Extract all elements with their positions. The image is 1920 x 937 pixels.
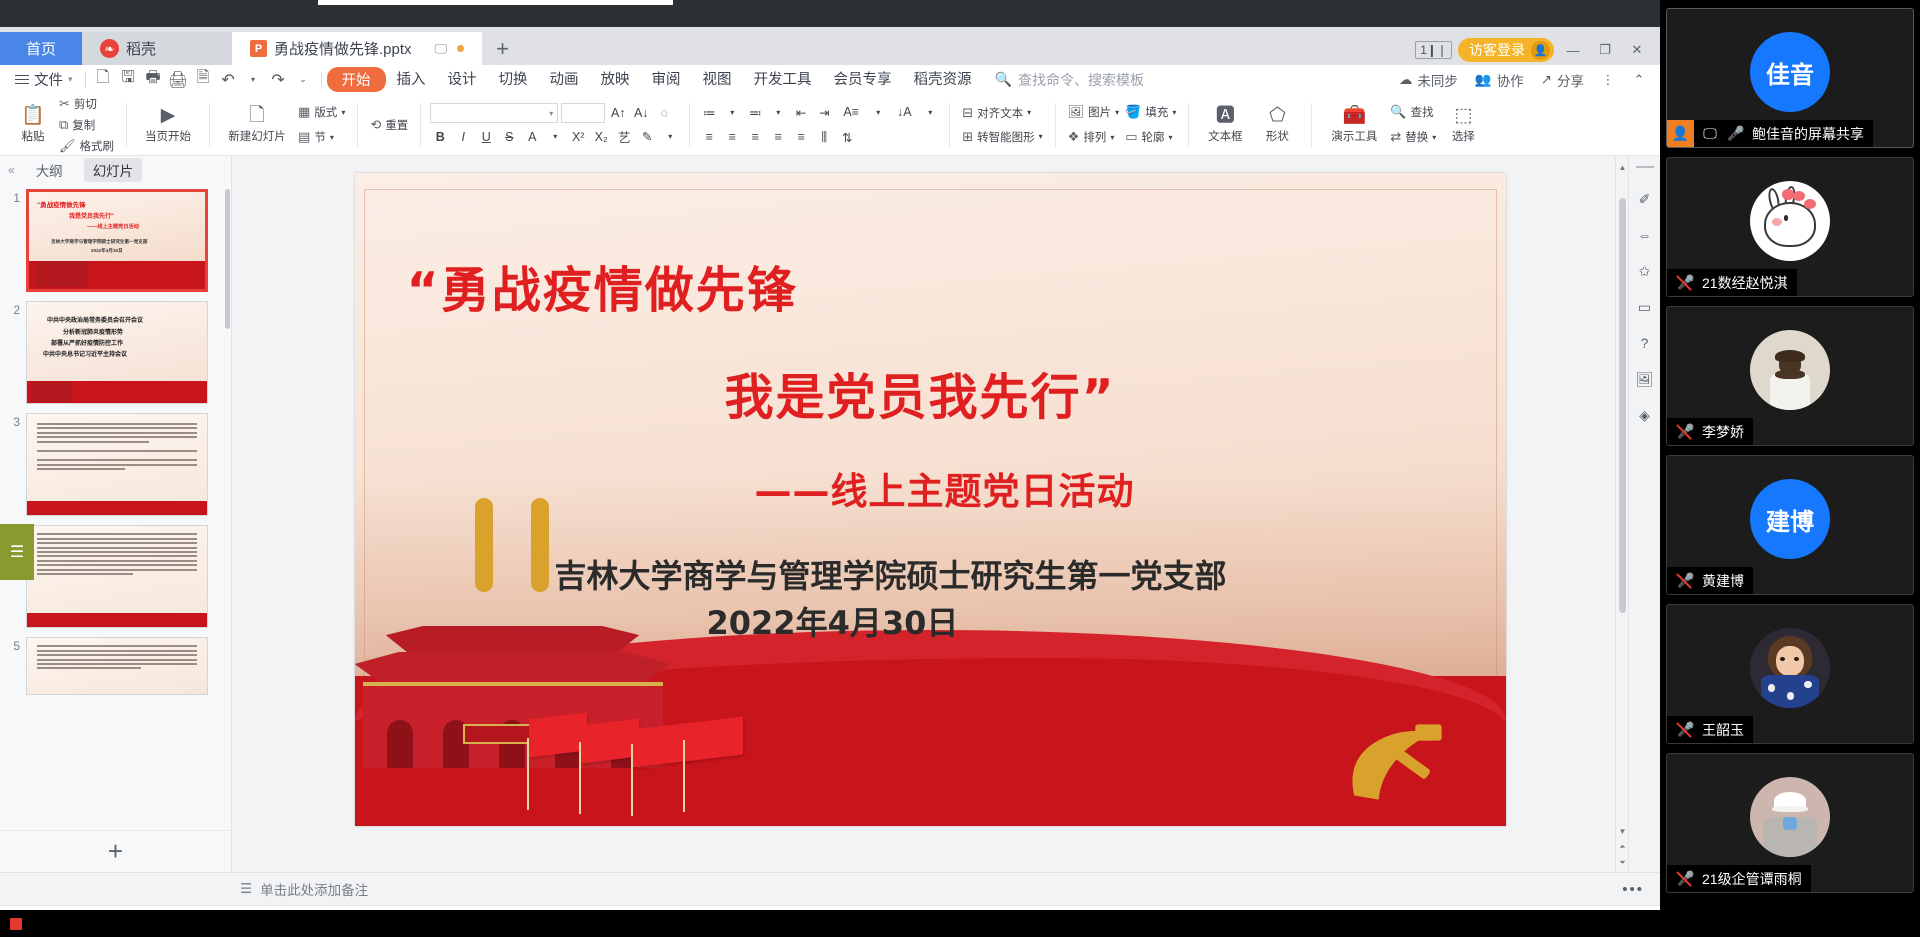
participant-tile-4[interactable]: 🎤 王韶玉 [1666, 604, 1914, 744]
participant-name: 黄建博 [1702, 571, 1744, 591]
shapes-icon: ⬠ [1269, 106, 1286, 126]
export-pdf-icon[interactable]: 🗎 [191, 69, 216, 91]
avatar-initials: 建博 [1766, 502, 1814, 537]
thumbnail-line-4: 中共中央总书记习近平主持会议 [43, 349, 127, 358]
share-icon: ↗ [1541, 72, 1552, 88]
chevron-down-icon: ▾ [1172, 108, 1176, 117]
avatar-photo [1750, 777, 1830, 857]
flag-group [505, 706, 765, 816]
ribbon-tab-transition[interactable]: 切换 [488, 70, 539, 90]
align-text-icon: ⊟ [962, 105, 973, 121]
window-tab-bar: 首页 ❧ 稻壳 P 勇战疫情做先锋.pptx 🖵 + 1 ❙❘ [0, 27, 1660, 65]
section-label: 节 [314, 129, 326, 145]
divider [85, 72, 86, 88]
reset-label: 重置 [385, 117, 408, 133]
thumbnail-slide-3[interactable] [26, 413, 208, 516]
gate-arch [387, 720, 413, 768]
insert-left-col: 🖼 图片 ▾ ❖ 排列 ▾ [1065, 97, 1123, 153]
cut-button[interactable]: ✂ 剪切 [56, 95, 117, 113]
participant-name: 21数经赵悦淇 [1702, 273, 1788, 293]
tab-home[interactable]: 首页 [0, 32, 82, 65]
tab-daoke-label: 稻壳 [126, 38, 156, 59]
new-tab-button[interactable]: + [482, 36, 523, 65]
text-box-icon: 🅰 [1216, 106, 1235, 126]
share-label: 分享 [1557, 70, 1584, 90]
ribbon-group-font: ▾ A↑ A↓ ◌ B I U S A ▾ X² X₂ 艺 [426, 94, 684, 155]
chevron-down-icon[interactable]: ▾ [920, 103, 940, 122]
layout-label: 版式 [314, 104, 337, 120]
tab-daoke[interactable]: ❧ 稻壳 [82, 32, 232, 65]
picture-label: 图片 [1088, 104, 1111, 120]
copy-button[interactable]: ⧉ 复制 [56, 116, 117, 134]
taskbar-indicator-icon [10, 918, 22, 930]
avatar-photo [1750, 181, 1830, 261]
list-item[interactable]: 1 "勇战疫情做先锋 我是党员我先行" ——线上主题党日活动 吉林大学商学与管理… [0, 189, 231, 301]
font-size-select[interactable] [561, 103, 605, 123]
arrange-button[interactable]: ❖ 排列 ▾ [1065, 128, 1123, 146]
text-box-label: 文本框 [1208, 128, 1243, 144]
find-label: 查找 [1411, 104, 1434, 120]
slide-thumbnail-pane: « 大纲 幻灯片 1 "勇战疫情做先锋 我是党员我先行" ——线上主题党日 [0, 156, 232, 872]
tab-slides[interactable]: 幻灯片 [84, 158, 143, 182]
paste-button[interactable]: 📋 粘贴 [10, 97, 56, 153]
align-right-button[interactable]: ≡ [745, 128, 765, 147]
slide-title-line-2[interactable]: 我是党员我先行” [725, 358, 1116, 429]
participant-name-bar: 🎤 21数经赵悦淇 [1667, 269, 1797, 296]
close-button[interactable]: ✕ [1624, 39, 1650, 61]
mic-muted-icon: 🎤 [1676, 721, 1696, 738]
gate-roof-upper [381, 626, 645, 652]
thumbnail-scrollbar[interactable] [225, 189, 230, 329]
undo-dropdown-icon[interactable]: ▾ [241, 69, 266, 91]
superscript-button[interactable]: X² [568, 127, 588, 146]
ribbon-tab-view[interactable]: 视图 [692, 70, 743, 90]
avatar [1750, 628, 1830, 708]
smart-art-label: 转智能图形 [977, 129, 1035, 145]
list-icon: ☰ [10, 542, 24, 562]
customize-toolbar-icon[interactable]: ⌄ [291, 69, 316, 91]
avatar [1750, 777, 1830, 857]
reset-icon: ⟲ [370, 117, 381, 133]
cloud-sync-icon: ☁ [1399, 72, 1413, 88]
canvas-vertical-scrollbar[interactable]: ▲ ▼ ⏶ ⏷ [1615, 156, 1628, 872]
chevron-down-icon[interactable]: ▾ [722, 103, 742, 122]
gold-column [531, 498, 549, 592]
save-icon[interactable]: 🖫 [116, 69, 141, 91]
participant-tile-3[interactable]: 建博 🎤 黄建博 [1666, 455, 1914, 595]
participant-tile-1[interactable]: 🎤 21数经赵悦淇 [1666, 157, 1914, 297]
select-button[interactable]: ⬚ 选择 [1439, 97, 1487, 153]
print-preview-icon[interactable]: 🖶 [141, 69, 166, 91]
thumbnail-line-2: 分析新冠肺炎疫情形势 [63, 327, 123, 336]
replace-button[interactable]: ⇄ 替换 ▾ [1387, 128, 1439, 146]
window-controls: 1 ❙❘ 访客登录 👤 — ❐ ✕ [1415, 38, 1660, 62]
ribbon-group-paragraph: ≔ ▾ ≕ ▾ ⇤ ⇥ A≡ ▾ ↓A ▾ ≡ ≡ ≡ ≡ ≡ [695, 94, 944, 155]
ribbon-group-text-tools: ⊟ 对齐文本 ▾ ⊞ 转智能图形 ▾ [955, 94, 1049, 155]
slide-count-value: 1 [1420, 43, 1427, 57]
avatar-initials: 佳音 [1766, 55, 1814, 90]
thumbnail-slide-5[interactable] [26, 637, 208, 695]
ribbon-tab-design[interactable]: 设计 [437, 70, 488, 90]
participant-tile-2[interactable]: 🎤 李梦娇 [1666, 306, 1914, 446]
arrange-label: 排列 [1083, 129, 1106, 145]
sync-status-label: 未同步 [1417, 70, 1458, 90]
tab-document-label: 勇战疫情做先锋.pptx [274, 38, 412, 59]
ribbon-tab-insert[interactable]: 插入 [386, 70, 437, 90]
increase-font-size-button[interactable]: A↑ [608, 104, 628, 123]
columns-button[interactable]: ⫼ [814, 128, 834, 147]
play-circle-icon: ▶ [161, 106, 176, 126]
chevron-down-icon: ▾ [1432, 133, 1436, 142]
thumbnail-slide-1[interactable]: "勇战疫情做先锋 我是党员我先行" ——线上主题党日活动 吉林大学商学与管理学院… [26, 189, 208, 292]
line-spacing-button[interactable]: A≡ [837, 103, 865, 122]
more-options-button[interactable]: ⋮ [1595, 69, 1621, 91]
align-text-button[interactable]: ⊟ 对齐文本 ▾ [959, 104, 1034, 122]
layers-icon[interactable]: ◈ [1634, 404, 1656, 426]
italic-button[interactable]: I [453, 127, 473, 146]
mic-muted-icon: 🎤 [1676, 572, 1696, 589]
decrease-font-size-button[interactable]: A↓ [631, 104, 651, 123]
ribbon-tab-slideshow[interactable]: 放映 [590, 70, 641, 90]
smart-art-button[interactable]: ⊞ 转智能图形 ▾ [959, 128, 1045, 146]
arrange-icon: ❖ [1068, 129, 1080, 145]
participant-name: 王韶玉 [1702, 720, 1744, 740]
participant-tile-5[interactable]: 🎤 21级企管谭雨桐 [1666, 753, 1914, 893]
text-effect-button[interactable]: 艺 [614, 127, 634, 146]
mic-muted-icon: 🎤 [1676, 870, 1696, 887]
start-from-current-button[interactable]: ▶ 当页开始 [136, 97, 200, 153]
notes-more-button[interactable]: ••• [1622, 881, 1644, 898]
present-tools-label: 演示工具 [1331, 128, 1377, 144]
select-cursor-icon: ⬚ [1454, 106, 1472, 126]
text-direction-button[interactable]: ⇅ [837, 128, 857, 147]
ribbon-group-tools: 🧰 演示工具 🔍 查找 ⇄ 替换 ▾ ⬚ 选择 [1317, 94, 1491, 155]
chevron-down-icon[interactable]: ▾ [768, 103, 788, 122]
picture-icon: 🖼 [1068, 104, 1085, 120]
hammer-sickle-icon [1340, 716, 1462, 808]
collaborate-button[interactable]: 👥 协作 [1469, 70, 1530, 90]
thumb-gate [31, 382, 71, 402]
gold-column [475, 498, 493, 592]
format-painter-button[interactable]: 🖌 格式刷 [56, 137, 117, 155]
thumbnail-line-3: 部署从严抓好疫情防控工作 [51, 338, 123, 347]
user-avatar-icon: 👤 [1531, 41, 1550, 60]
chevron-down-icon: ▾ [330, 133, 334, 142]
reset-button[interactable]: ⟲ 重置 [367, 116, 411, 134]
divider [420, 103, 421, 147]
guest-login-label: 访客登录 [1469, 40, 1525, 60]
bullets-button[interactable]: ≔ [699, 103, 719, 122]
copy-label: 复制 [72, 117, 95, 133]
insert-right-col: 🪣 填充 ▾ ▭ 轮廓 ▾ [1122, 97, 1179, 153]
chevron-down-icon[interactable]: ▾ [545, 127, 565, 146]
fill-button[interactable]: 🪣 填充 ▾ [1122, 103, 1179, 121]
slide-date-line[interactable]: 2022年4月30日 [707, 598, 959, 644]
search-icon: 🔍 [1390, 104, 1406, 120]
font-family-select[interactable]: ▾ [430, 103, 558, 123]
shapes-button[interactable]: ⬠ 形状 [1252, 97, 1302, 153]
tab-outline[interactable]: 大纲 [27, 158, 72, 182]
chevron-down-icon[interactable]: ▾ [660, 127, 680, 146]
sort-button[interactable]: ↓A [891, 103, 917, 122]
avatar-photo [1750, 628, 1830, 708]
participant-name: 鲍佳音的屏幕共享 [1752, 124, 1864, 144]
collapse-pane-button[interactable]: « [8, 163, 15, 177]
align-left-button[interactable]: ≡ [699, 128, 719, 147]
ribbon-tab-resources[interactable]: 稻壳资源 [903, 70, 983, 90]
present-tools-icon: 🧰 [1343, 106, 1367, 126]
paste-icon: 📋 [21, 106, 45, 126]
fill-label: 填充 [1145, 104, 1168, 120]
copy-icon: ⧉ [59, 117, 68, 133]
notes-placeholder: 单击此处添加备注 [260, 879, 368, 899]
tab-home-label: 首页 [26, 38, 56, 59]
outline-icon: ▭ [1125, 129, 1137, 145]
sync-status-button[interactable]: ☁ 未同步 [1393, 70, 1464, 90]
list-item[interactable]: 5 [0, 637, 231, 704]
new-slide-icon: 🗋 [249, 106, 264, 126]
character-spacing-button[interactable]: A [522, 127, 542, 146]
clipboard-small-buttons: ✂ 剪切 ⧉ 复制 🖌 格式刷 [56, 97, 117, 153]
avatar [1750, 181, 1830, 261]
scissors-icon: ✂ [59, 96, 70, 112]
party-emblem [1334, 708, 1462, 808]
maximize-button[interactable]: ❐ [1592, 39, 1618, 61]
cut-label: 剪切 [74, 96, 97, 112]
align-text-label: 对齐文本 [977, 105, 1023, 121]
pen-icon[interactable]: ✐ [1634, 188, 1656, 210]
tab-document[interactable]: P 勇战疫情做先锋.pptx 🖵 [232, 32, 482, 65]
china-flag [685, 716, 743, 761]
ribbon-group-slides: 🗋 新建幻灯片 ▦ 版式 ▾ ▤ 节 ▾ [215, 94, 352, 155]
slide-count-badge[interactable]: 1 ❙❘ [1415, 41, 1452, 59]
brush-icon: 🖌 [59, 138, 76, 154]
menu-right-actions: ☁ 未同步 👥 协作 ↗ 分享 ⋮ ⌃ [1393, 69, 1652, 91]
increase-indent-button[interactable]: ⇥ [814, 103, 834, 122]
ribbon-tab-start[interactable]: 开始 [327, 67, 386, 92]
slide-list-fab[interactable]: ☰ [0, 524, 34, 580]
outline-button[interactable]: ▭ 轮廓 ▾ [1122, 128, 1179, 146]
strikethrough-button[interactable]: S [499, 127, 519, 146]
file-menu-button[interactable]: 文件 ▾ [8, 69, 80, 90]
slide-title-line-1[interactable]: “勇战疫情做先锋 [407, 251, 798, 322]
divider [209, 103, 210, 147]
thumbnail-number: 5 [8, 637, 20, 653]
picture-button[interactable]: 🖼 图片 ▾ [1065, 103, 1123, 121]
previous-slide-button[interactable]: ⏶ [1616, 840, 1629, 854]
bold-button[interactable]: B [430, 127, 450, 146]
reset-buttons: ⟲ 重置 [367, 97, 411, 153]
divider [1055, 103, 1056, 147]
thumbnail-line-5: 2022年4月30日 [91, 248, 123, 254]
thumb-gate [35, 261, 87, 287]
add-slide-button[interactable]: + [0, 830, 231, 872]
thumbnail-line-2: 我是党员我先行" [69, 211, 114, 220]
help-icon[interactable]: ? [1634, 332, 1656, 354]
chevron-down-icon[interactable]: ▾ [868, 103, 888, 122]
command-search[interactable]: 🔍 查找命令、搜索模板 [995, 70, 1144, 90]
divider [689, 103, 690, 147]
new-icon[interactable]: 🗋 [91, 69, 116, 91]
participant-name-bar: 🎤 王韶玉 [1667, 716, 1753, 743]
start-from-current-label: 当页开始 [145, 128, 191, 144]
clear-formatting-button[interactable]: ◌ [654, 104, 674, 123]
right-tool-rail: ✐ ⇔ ✩ ▭ ? 🖼 ◈ [1628, 156, 1660, 872]
collapse-ribbon-button[interactable]: ⌃ [1626, 69, 1652, 91]
divider [357, 103, 358, 147]
thumbnail-number: 1 [8, 189, 20, 205]
thumb-banner [27, 613, 207, 627]
thumbnail-slide-4[interactable] [26, 525, 208, 628]
hamburger-icon [15, 72, 29, 87]
collaborate-label: 协作 [1497, 70, 1524, 90]
ribbon-group-clipboard: 📋 粘贴 ✂ 剪切 ⧉ 复制 🖌 格式刷 [6, 94, 121, 155]
list-item[interactable]: 2 中共中央政治局常务委员会召开会议 分析新冠肺炎疫情形势 部署从严抓好疫情防控… [0, 301, 231, 413]
ribbon-tab-review[interactable]: 审阅 [641, 70, 692, 90]
chevron-down-icon: ▾ [1115, 108, 1119, 117]
underline-button[interactable]: U [476, 127, 496, 146]
thumb-banner [27, 501, 207, 515]
divider [1311, 103, 1312, 147]
thumbnail-line-1: "勇战疫情做先锋 [37, 199, 86, 209]
avatar: 建博 [1750, 479, 1830, 559]
ribbon-group-reset: ⟲ 重置 [363, 94, 415, 155]
new-slide-label: 新建幻灯片 [228, 128, 286, 144]
find-button[interactable]: 🔍 查找 [1387, 103, 1439, 121]
rail-divider [1636, 166, 1654, 168]
ribbon-group-slideshow: ▶ 当页开始 [132, 94, 204, 155]
gate-roof-lower [355, 652, 671, 682]
outline-label: 轮廓 [1141, 129, 1164, 145]
mic-muted-icon: 🎤 [1676, 423, 1696, 440]
star-icon[interactable]: ✩ [1634, 260, 1656, 282]
print-icon[interactable]: 🖨 [166, 69, 191, 91]
smart-art-icon: ⊞ [962, 129, 973, 145]
layout-icon: ▦ [298, 104, 310, 120]
ribbon-tab-animation[interactable]: 动画 [539, 70, 590, 90]
tab-document-status: 🖵 [435, 41, 465, 57]
align-center-button[interactable]: ≡ [722, 128, 742, 147]
share-button[interactable]: ↗ 分享 [1535, 70, 1590, 90]
screen-bottom-strip [0, 910, 1660, 937]
participant-tile-0[interactable]: 佳音 👤 🖵 🎤 鲍佳音的屏幕共享 [1666, 8, 1914, 148]
list-item[interactable]: 4 [0, 525, 231, 637]
slide-canvas-area: “勇战疫情做先锋 我是党员我先行” ——线上主题党日活动 吉林大学商学与管理学院… [232, 156, 1628, 872]
chevron-down-icon: ▾ [341, 108, 345, 117]
minimize-button[interactable]: — [1560, 39, 1586, 61]
chevron-down-icon: ▾ [1027, 108, 1031, 117]
participant-name-bar: 🎤 李梦娇 [1667, 418, 1753, 445]
layout-button[interactable]: ▦ 版式 ▾ [295, 103, 348, 121]
thumbnail-number: 3 [8, 413, 20, 429]
paragraph-row-2: ≡ ≡ ≡ ≡ ≡ ⫼ ⇅ [699, 128, 857, 147]
mic-on-icon: 🎤 [1726, 125, 1746, 142]
paragraph-row-1: ≔ ▾ ≕ ▾ ⇤ ⇥ A≡ ▾ ↓A ▾ [699, 103, 940, 122]
participant-name-bar: 👤 🖵 🎤 鲍佳音的屏幕共享 [1667, 120, 1873, 147]
divider [126, 103, 127, 147]
slide-canvas[interactable]: “勇战疫情做先锋 我是党员我先行” ——线上主题党日活动 吉林大学商学与管理学院… [355, 173, 1506, 826]
slides-small-buttons: ▦ 版式 ▾ ▤ 节 ▾ [295, 97, 348, 153]
work-area: « 大纲 幻灯片 1 "勇战疫情做先锋 我是党员我先行" ——线上主题党日 [0, 156, 1660, 872]
section-button[interactable]: ▤ 节 ▾ [295, 128, 348, 146]
pptx-icon: P [250, 40, 267, 57]
image-icon[interactable]: 🖼 [1634, 368, 1656, 390]
screen-share-icon: 🖵 [1700, 125, 1720, 142]
redo-icon[interactable]: ↷ [266, 69, 291, 91]
menu-bar: 文件 ▾ 🗋 🖫 🖶 🖨 🗎 ↶ ▾ ↷ ⌄ 开始 插入 设计 切换 动画 放映… [0, 65, 1660, 94]
search-icon: 🔍 [995, 71, 1012, 88]
chevron-down-icon: ▾ [1039, 132, 1043, 141]
thumbnail-line-1: 中共中央政治局常务委员会召开会议 [47, 316, 143, 326]
numbering-button[interactable]: ≕ [745, 103, 765, 122]
text-box-button[interactable]: 🅰 文本框 [1198, 97, 1252, 153]
avatar-photo [1750, 330, 1830, 410]
chevron-down-icon: ▾ [68, 74, 73, 85]
chevron-down-icon: ▾ [1168, 133, 1172, 142]
divider [1188, 103, 1189, 147]
new-slide-button[interactable]: 🗋 新建幻灯片 [219, 97, 295, 153]
ribbon-tab-member[interactable]: 会员专享 [823, 70, 903, 90]
ribbon-group-textbox-shape: 🅰 文本框 ⬠ 形状 [1194, 94, 1306, 155]
collaborate-icon: 👥 [1475, 72, 1492, 88]
thumb-text-block [37, 420, 197, 473]
highlight-color-button[interactable]: ✎ [637, 127, 657, 146]
list-item[interactable]: 3 [0, 413, 231, 525]
notes-icon: ☰ [240, 881, 252, 897]
frame-icon[interactable]: ▭ [1634, 296, 1656, 318]
undo-icon[interactable]: ↶ [216, 69, 241, 91]
participant-name-bar: 🎤 21级企管谭雨桐 [1667, 865, 1811, 892]
slide-subtitle[interactable]: ——线上主题党日活动 [755, 461, 1135, 515]
adjust-icon[interactable]: ⇔ [1634, 224, 1656, 246]
decrease-indent-button[interactable]: ⇤ [791, 103, 811, 122]
font-row-2: B I U S A ▾ X² X₂ 艺 ✎ ▾ [430, 127, 680, 146]
monitor-icon[interactable]: 🖵 [435, 41, 448, 57]
thumbnail-list[interactable]: 1 "勇战疫情做先锋 我是党员我先行" ——线上主题党日活动 吉林大学商学与管理… [0, 183, 231, 830]
section-icon: ▤ [298, 129, 310, 145]
replace-label: 替换 [1405, 129, 1428, 145]
next-slide-button[interactable]: ⏷ [1616, 856, 1629, 870]
distribute-button[interactable]: ≡ [791, 128, 811, 147]
guest-login-button[interactable]: 访客登录 👤 [1458, 38, 1554, 62]
chevron-down-icon: ▾ [1110, 133, 1114, 142]
present-tools-button[interactable]: 🧰 演示工具 [1321, 97, 1387, 153]
participant-name: 21级企管谭雨桐 [1702, 869, 1802, 889]
paste-label: 粘贴 [22, 128, 45, 144]
ribbon-tab-developer[interactable]: 开发工具 [743, 70, 823, 90]
daoke-icon: ❧ [100, 39, 119, 58]
screen-share-badge-icon: 👤 [1667, 120, 1694, 147]
meeting-participant-sidebar: 佳音 👤 🖵 🎤 鲍佳音的屏幕共享 🎤 21 [1660, 0, 1920, 937]
mic-muted-icon: 🎤 [1676, 274, 1696, 291]
slide-org-line[interactable]: 吉林大学商学与管理学院硕士研究生第一党支部 [555, 551, 1227, 597]
thumbnail-slide-2[interactable]: 中共中央政治局常务委员会召开会议 分析新冠肺炎疫情形势 部署从严抓好疫情防控工作… [26, 301, 208, 404]
divider [321, 72, 322, 88]
replace-icon: ⇄ [1390, 129, 1401, 145]
notes-bar[interactable]: ☰ 单击此处添加备注 ••• [0, 872, 1660, 905]
thumbnail-pane-header: « 大纲 幻灯片 [0, 156, 231, 183]
top-strip-gap [318, 0, 673, 5]
stack-icon: ❙❘ [1427, 43, 1447, 57]
avatar [1750, 330, 1830, 410]
scroll-up-arrow-icon[interactable]: ▲ [1616, 160, 1629, 174]
scrollbar-thumb[interactable] [1619, 198, 1626, 613]
subscript-button[interactable]: X₂ [591, 127, 611, 146]
scroll-down-arrow-icon[interactable]: ▼ [1616, 824, 1629, 838]
ribbon-group-insert-objects: 🖼 图片 ▾ ❖ 排列 ▾ 🪣 填充 ▾ [1061, 94, 1184, 155]
thumbnail-line-4: 吉林大学商学与管理学院硕士研究生第一党支部 [51, 239, 147, 245]
justify-button[interactable]: ≡ [768, 128, 788, 147]
